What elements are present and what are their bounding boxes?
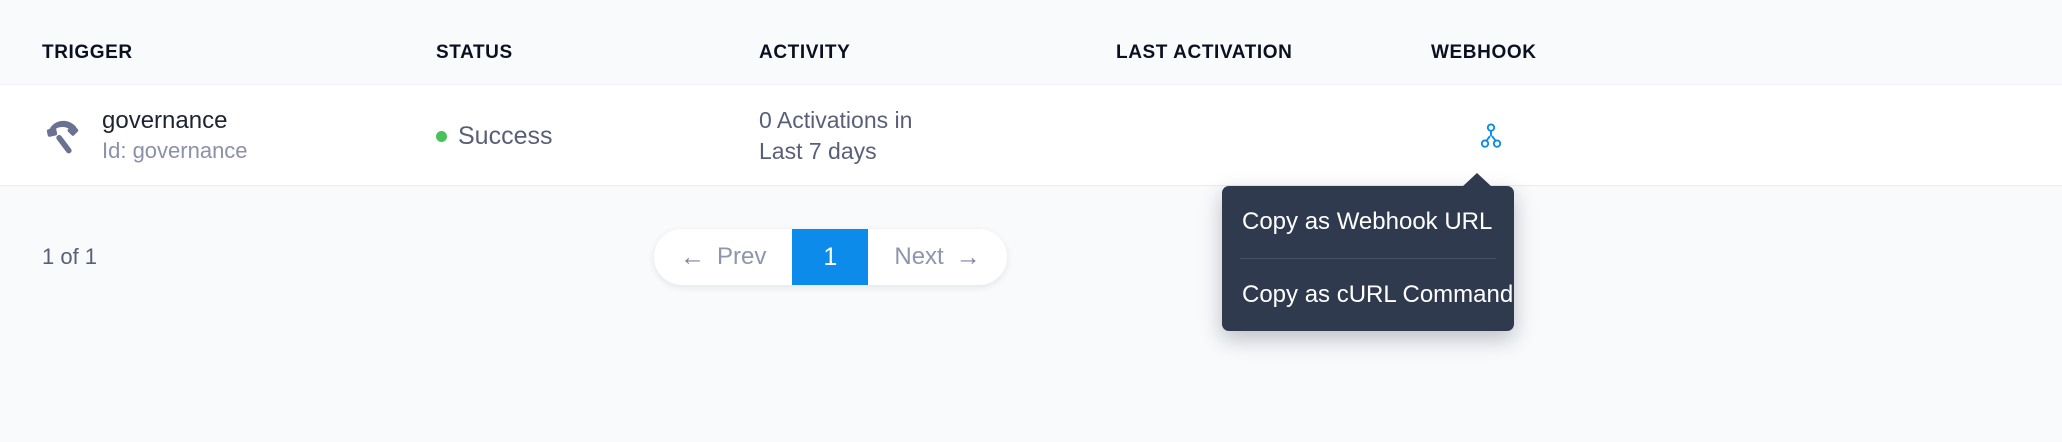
webhook-icon <box>1477 122 1505 150</box>
activity-text-block: 0 Activations in Last 7 days <box>759 105 912 167</box>
cell-webhook <box>1431 85 1551 187</box>
status-label: Success <box>458 122 552 151</box>
webhook-dropdown-menu: Copy as Webhook URL Copy as cURL Command <box>1222 186 1514 331</box>
hammer-icon <box>42 113 88 159</box>
table-header-row: TRIGGER STATUS ACTIVITY LAST ACTIVATION … <box>0 0 2062 84</box>
triggers-table-page: TRIGGER STATUS ACTIVITY LAST ACTIVATION … <box>0 0 2062 442</box>
arrow-left-icon: ← <box>680 245 705 270</box>
cell-activity: 0 Activations in Last 7 days <box>759 85 912 187</box>
dropdown-caret-icon <box>1462 173 1492 187</box>
menu-item-copy-curl-command[interactable]: Copy as cURL Command <box>1222 259 1514 331</box>
cell-last-activation <box>1116 85 1396 187</box>
trigger-text-block: governance Id: governance <box>102 106 248 166</box>
table-footer: 1 of 1 ← Prev 1 Next → <box>0 186 2062 442</box>
activity-line-1: 0 Activations in <box>759 105 912 136</box>
pagination-prev-label: Prev <box>717 243 766 271</box>
pagination-next-button[interactable]: Next → <box>868 229 1006 285</box>
trigger-name: governance <box>102 106 248 136</box>
pagination-page-number: 1 <box>823 243 837 272</box>
pagination-prev-button[interactable]: ← Prev <box>654 229 792 285</box>
pagination-next-label: Next <box>894 243 943 271</box>
webhook-menu-button[interactable] <box>1469 114 1513 158</box>
column-header-trigger: TRIGGER <box>42 42 133 64</box>
activity-line-2: Last 7 days <box>759 136 912 167</box>
table-row[interactable]: governance Id: governance Success 0 Acti… <box>0 84 2062 186</box>
result-count-label: 1 of 1 <box>42 244 97 270</box>
arrow-right-icon: → <box>956 245 981 270</box>
pagination-page-1[interactable]: 1 <box>792 229 868 285</box>
cell-trigger: governance Id: governance <box>42 85 248 187</box>
menu-item-copy-webhook-url[interactable]: Copy as Webhook URL <box>1222 186 1514 258</box>
column-header-status: STATUS <box>436 42 513 64</box>
status-badge: Success <box>436 122 552 151</box>
pagination: ← Prev 1 Next → <box>654 229 1007 285</box>
column-header-webhook: WEBHOOK <box>1431 42 1537 64</box>
column-header-last-activation: LAST ACTIVATION <box>1116 42 1292 64</box>
status-dot-icon <box>436 131 447 142</box>
trigger-id: Id: governance <box>102 136 248 166</box>
cell-status: Success <box>436 85 552 187</box>
column-header-activity: ACTIVITY <box>759 42 850 64</box>
